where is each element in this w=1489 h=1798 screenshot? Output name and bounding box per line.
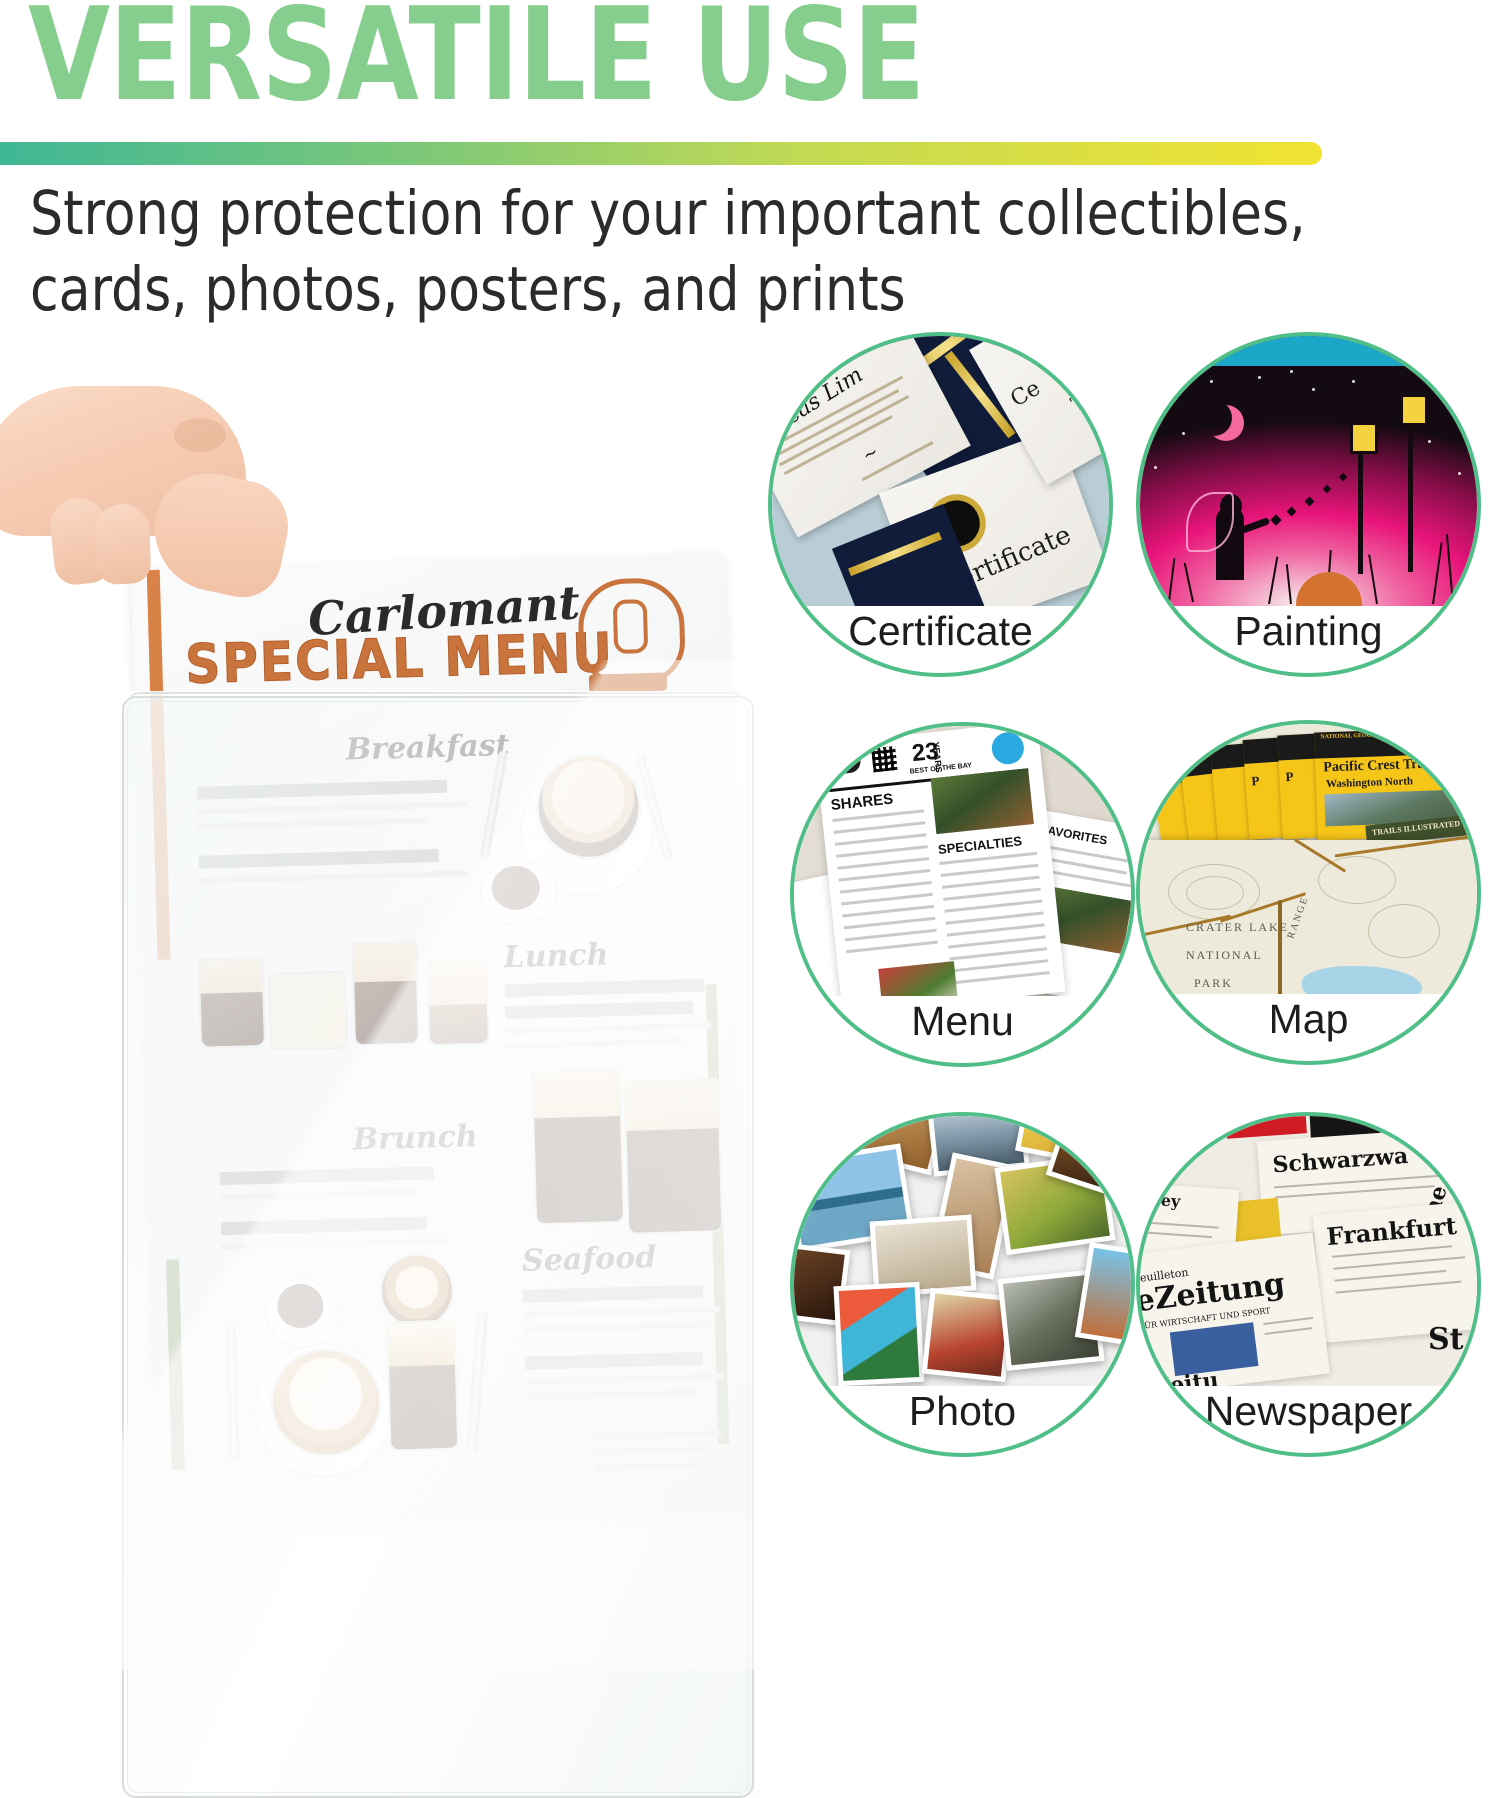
page-title: VERSATILE USE [28,0,924,118]
promo-page: VERSATILE USE Strong protection for your… [0,0,1489,1469]
use-case-certificate[interactable]: Lucas Lim ~ Certificate Ce To [768,332,1113,677]
use-case-newspaper[interactable]: Schwarzwa che t Sey Frankfurt [1136,1112,1481,1457]
painting-artwork [1140,336,1477,606]
street-lamp-far-post [1408,414,1413,572]
menu-label: Menu [794,998,1131,1045]
map-circle: P P NATIONAL GEOGRAPHIC Pacific Crest Tr… [1136,720,1481,1065]
finger-middle [95,503,152,585]
newspaper-artwork: Schwarzwa che t Sey Frankfurt [1140,1116,1477,1386]
menu-main-title: SPECIAL MENU [184,621,614,696]
page-subtitle: Strong protection for your important col… [30,176,1341,328]
hand [0,368,308,618]
photo-label: Photo [794,1388,1131,1435]
menu-shares-heading: SHARES [830,791,894,814]
newspaper-sheet-zeitung: Feuilleton eZeitung FÜR WIRTSCHAFT UND S… [1140,1232,1330,1386]
use-case-map[interactable]: P P NATIONAL GEOGRAPHIC Pacific Crest Tr… [1136,720,1481,1065]
newspaper-word-zeitu: Zeitu [1153,1367,1220,1386]
painting-canvas-edge [1140,336,1477,366]
use-case-painting[interactable]: Painting [1136,332,1481,677]
use-case-grid: Lucas Lim ~ Certificate Ce To [760,322,1489,1469]
map-label-national: NATIONAL [1186,948,1263,963]
newspaper-word-schwarzwa: Schwarzwa [1272,1143,1409,1178]
map-label-park: PARK [1194,976,1233,991]
certificate-label: Certificate [772,608,1109,655]
menu-restaurant-logo [825,750,861,775]
hero-product-photo: Carlomant SPECIAL MENU Breakfast Lunch [0,330,790,1469]
painting-label: Painting [1140,608,1477,655]
map-label-crater-lake: CRATER LAKE [1186,920,1289,935]
street-lamp-far-head [1400,394,1428,426]
crescent-moon [1196,400,1232,436]
street-lamp-near-post [1358,442,1363,574]
map-label: Map [1140,996,1477,1043]
menu-specialties-heading: SPECIALTIES [937,833,1022,857]
painting-sky [1140,336,1477,606]
use-case-photo[interactable]: Photo [790,1112,1135,1457]
certificate-circle: Lucas Lim ~ Certificate Ce To [768,332,1113,677]
use-case-menu[interactable]: FAVORITES 23 YEARS BEST OF THE BAY [790,722,1135,1067]
knuckle-shadow [174,418,226,452]
menu-sheet-front: 23 YEARS BEST OF THE BAY SHARES SPECIALT… [814,726,1065,996]
newspaper-word-frankfurt: Frankfurt [1325,1211,1457,1251]
certificate-word-to: To [1067,383,1100,416]
newspaper-circle: Schwarzwa che t Sey Frankfurt [1136,1112,1481,1457]
map-label-range: RANGE [1285,895,1311,941]
photo-artwork [794,1116,1131,1386]
subtitle-line-1: Strong protection for your important col… [30,176,1341,252]
newspaper-label: Newspaper [1140,1388,1477,1435]
menu-artwork: FAVORITES 23 YEARS BEST OF THE BAY [794,726,1131,996]
map-open-sheet: CRATER LAKE NATIONAL PARK RANGE [1140,840,1477,994]
menu-circle: FAVORITES 23 YEARS BEST OF THE BAY [790,722,1135,1067]
newspaper-word-st: St [1428,1322,1464,1357]
street-lamp-near-head [1350,422,1378,454]
sleeve-opening-lip [128,692,744,716]
menu-blue-badge [990,731,1025,766]
map-title-line1: Pacific Crest Trail [1323,757,1432,777]
painting-circle: Painting [1136,332,1481,677]
gradient-divider [0,142,1322,165]
certificate-word-ce: Ce [1006,376,1044,413]
menu-crest-logo [577,577,686,686]
certificate-artwork: Lucas Lim ~ Certificate Ce To [772,336,1109,606]
subtitle-line-2: cards, photos, posters, and prints [30,252,1341,328]
map-title-line2: Washington North [1326,775,1413,790]
photo-circle: Photo [790,1112,1135,1457]
map-artwork: P P NATIONAL GEOGRAPHIC Pacific Crest Tr… [1140,724,1477,994]
menu-qr-code [871,746,897,772]
clear-sleeve [122,696,754,1798]
